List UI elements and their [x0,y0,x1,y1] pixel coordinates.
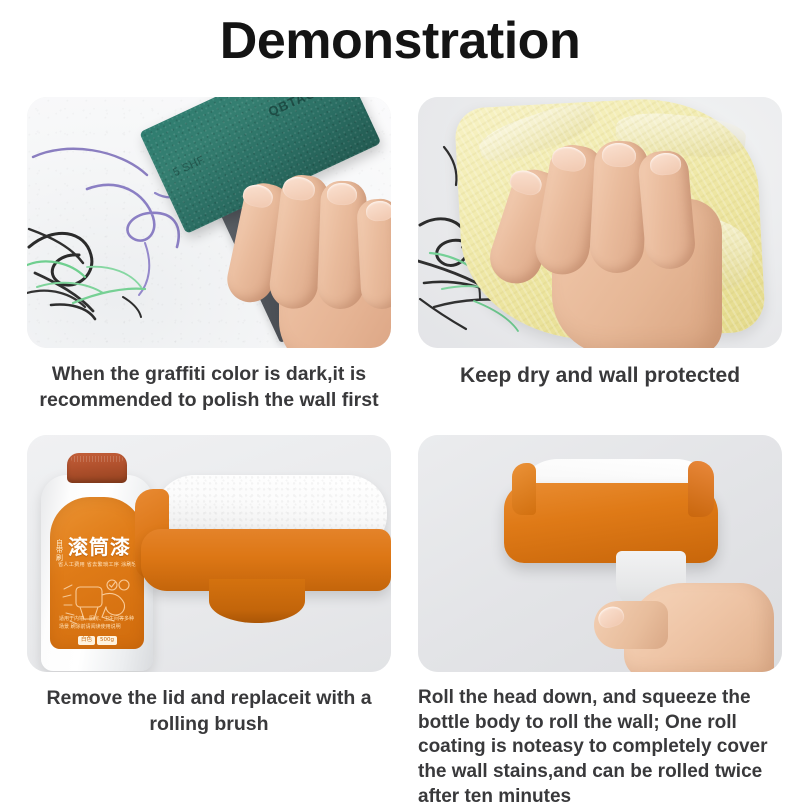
badge-weight: 500g [97,636,117,645]
bottle-label: 自带刷 滚筒漆 省人工费用 省去繁琐工序 涂刷轻松便捷 墙面焕然如新 [50,497,144,649]
step-4-caption: Roll the head down, and squeeze the bott… [418,686,782,809]
bottle-label-footer: 适用于内墙、厨房、卫生间等多种场景 刷涂前请阅读使用说明 [59,616,135,631]
roller-holder [504,483,718,563]
bottle-label-badges: 白色 500g [78,636,117,645]
bottle-label-subtitle: 省人工费用 省去繁琐工序 涂刷轻松便捷 墙面焕然如新 [58,561,138,568]
step-2-caption: Keep dry and wall protected [418,362,782,390]
wiping-wall-cloth-photo [418,97,782,348]
step-3-caption: Remove the lid and replaceit with a roll… [27,686,391,737]
badge-color: 白色 [78,636,95,645]
nail-ring [327,182,358,205]
bottle-label-title: 滚筒漆 [68,537,131,557]
demo-step-2: Keep dry and wall protected [418,97,782,390]
graffiti-wall-sanding-photo: QBTAOZOC 5 SHF [27,97,391,348]
bottle-cap [67,453,127,483]
hand-holding-block [227,175,391,348]
hand-wiping [496,123,746,348]
roller-neck [209,579,305,623]
bottle-and-roller-photo: 自带刷 滚筒漆 省人工费用 省去繁琐工序 涂刷轻松便捷 墙面焕然如新 [27,435,391,672]
page-title: Demonstration [0,12,800,70]
step-1-caption: When the graffiti color is dark,it is re… [27,362,391,413]
hand-squeezing-bottle [594,567,782,672]
rolling-wall-photo [418,435,782,672]
roller-brush-head [135,475,387,645]
demo-step-1: QBTAOZOC 5 SHF When the graffiti color i… [27,97,391,413]
demo-step-4: Roll the head down, and squeeze the bott… [418,435,782,809]
nail-pinky [365,200,391,221]
demo-step-3: 自带刷 滚筒漆 省人工费用 省去繁琐工序 涂刷轻松便捷 墙面焕然如新 [27,435,391,737]
bottle-label-tag: 自带刷 [56,540,67,562]
